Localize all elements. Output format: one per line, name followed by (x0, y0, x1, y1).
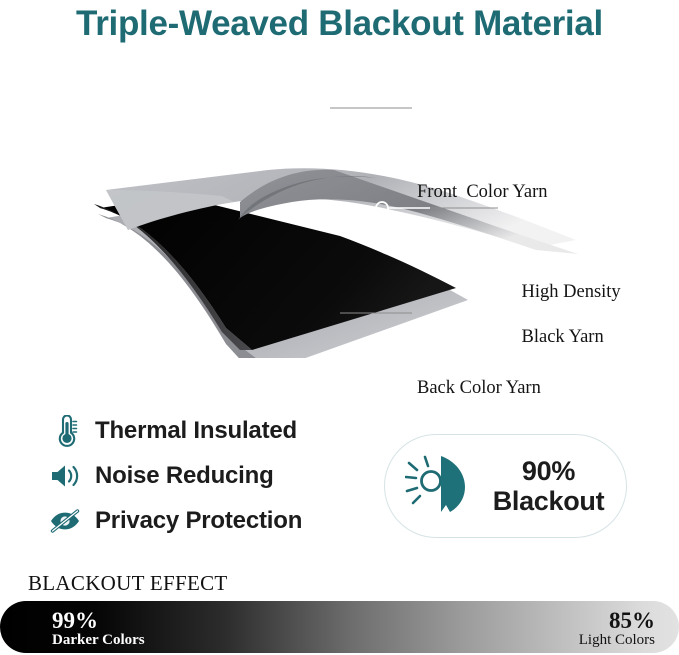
effect-light-percent: 85% (579, 609, 655, 633)
effect-darker-percent: 99% (52, 609, 145, 633)
effect-darker-label: Darker Colors (52, 633, 145, 649)
feature-label-noise-reducing: Noise Reducing (95, 462, 274, 490)
feature-thermal-insulated: Thermal Insulated (46, 408, 376, 453)
effect-light-label: Light Colors (579, 633, 655, 649)
feature-list: Thermal Insulated Noise Reducing Privacy… (46, 408, 376, 543)
blackout-label: Blackout (493, 486, 605, 516)
page-title: Triple-Weaved Blackout Material (0, 4, 679, 44)
label-high-density-line2: Black Yarn (522, 327, 604, 347)
feature-noise-reducing: Noise Reducing (46, 453, 376, 498)
feature-privacy-protection: Privacy Protection (46, 498, 376, 543)
label-front-color-yarn: Front Color Yarn (417, 181, 548, 204)
feature-label-thermal-insulated: Thermal Insulated (95, 417, 297, 445)
effect-darker-colors: 99% Darker Colors (52, 609, 145, 649)
speaker-icon (46, 457, 84, 495)
effect-light-colors: 85% Light Colors (579, 609, 655, 649)
fabric-layers-diagram: Front Color Yarn High Density Black Yarn… (0, 78, 679, 358)
thermometer-icon (46, 412, 84, 450)
blackout-badge: 90% Blackout (384, 434, 627, 538)
blackout-effect-bar: 99% Darker Colors 85% Light Colors (0, 601, 679, 653)
sun-blocked-icon (403, 451, 477, 521)
blackout-percent: 90% (522, 456, 575, 486)
label-high-density-black-yarn: High Density Black Yarn (503, 258, 621, 371)
blackout-badge-text: 90% Blackout (477, 456, 626, 517)
blackout-effect-heading: BLACKOUT EFFECT (28, 571, 228, 596)
eye-off-icon (46, 502, 84, 540)
feature-label-privacy-protection: Privacy Protection (95, 507, 302, 535)
label-high-density-line1: High Density (522, 282, 621, 302)
label-back-color-yarn: Back Color Yarn (417, 377, 541, 400)
